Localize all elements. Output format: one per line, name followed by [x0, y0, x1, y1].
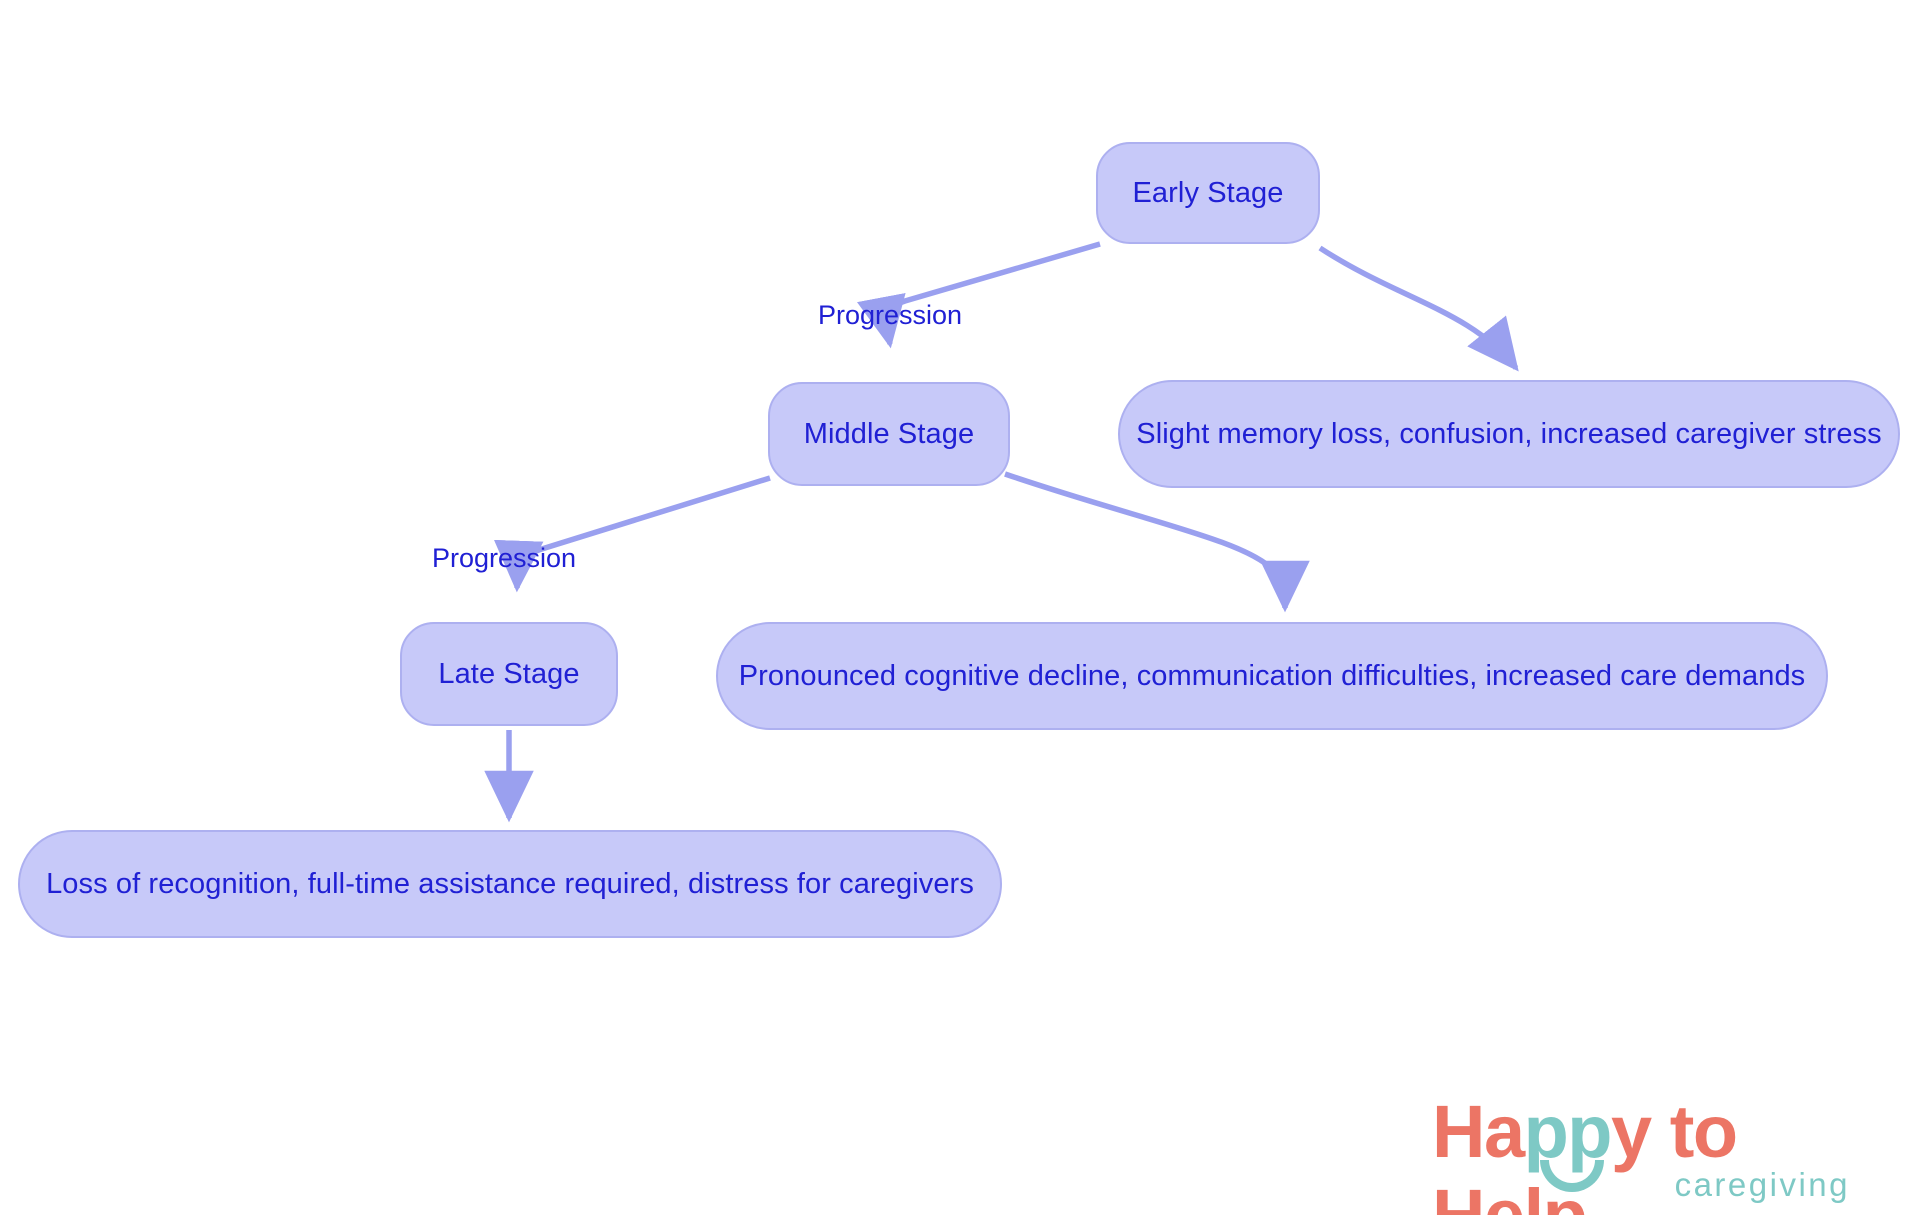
edge-middle-to-middle-desc [1005, 474, 1285, 608]
edge-early-to-early-desc [1320, 248, 1516, 368]
edge-label-progression-2: Progression [432, 543, 576, 574]
node-late-stage[interactable]: Late Stage [400, 622, 618, 726]
node-label: Loss of recognition, full-time assistanc… [46, 868, 974, 901]
brand-logo: Happy to Help caregiving [1432, 1090, 1852, 1200]
logo-word-part-1: Ha [1432, 1090, 1524, 1173]
node-label: Early Stage [1132, 177, 1283, 210]
node-middle-stage[interactable]: Middle Stage [768, 382, 1010, 486]
node-early-description[interactable]: Slight memory loss, confusion, increased… [1118, 380, 1900, 488]
node-early-stage[interactable]: Early Stage [1096, 142, 1320, 244]
diagram-canvas: Early Stage Slight memory loss, confusio… [0, 0, 1920, 1215]
node-middle-description[interactable]: Pronounced cognitive decline, communicat… [716, 622, 1828, 730]
node-label: Late Stage [438, 658, 579, 691]
node-label: Middle Stage [804, 418, 974, 451]
edge-label-progression-1: Progression [818, 300, 962, 331]
node-label: Slight memory loss, confusion, increased… [1136, 418, 1882, 451]
logo-tagline: caregiving [1675, 1166, 1850, 1204]
diagram-edges [0, 0, 1920, 1215]
node-late-description[interactable]: Loss of recognition, full-time assistanc… [18, 830, 1002, 938]
node-label: Pronounced cognitive decline, communicat… [739, 660, 1806, 693]
